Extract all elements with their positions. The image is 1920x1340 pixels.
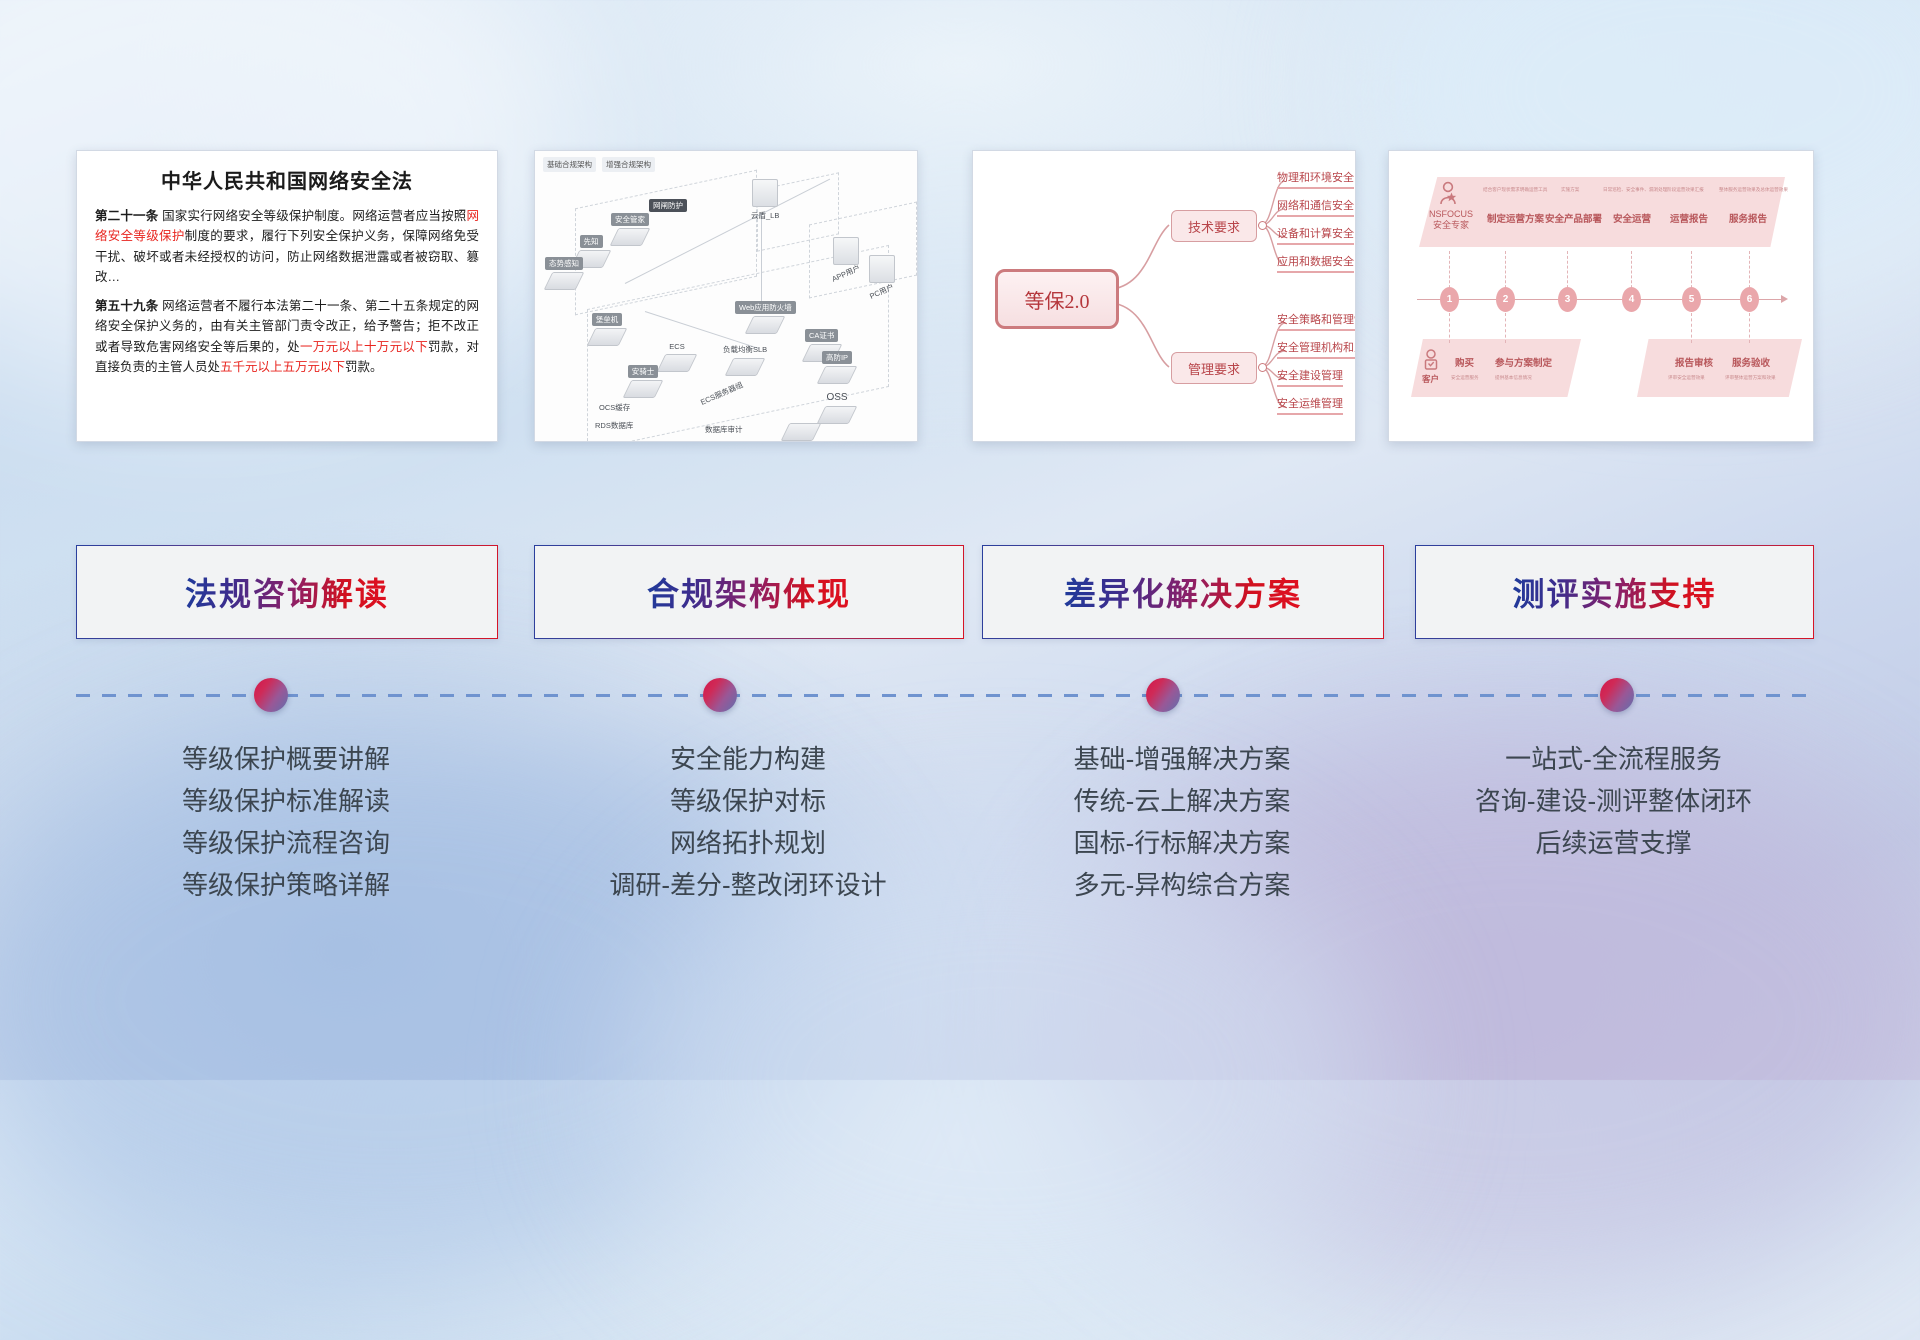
architecture-link-2 xyxy=(761,213,762,305)
list-item: 传统-云上解决方案 xyxy=(982,780,1382,822)
list-item: 等级保护策略详解 xyxy=(76,864,496,906)
law-article-21: 第二十一条 国家实行网络安全等级保护制度。网络运营者应当按照网络安全等级保护制度… xyxy=(95,206,479,287)
article-59-label: 第五十九条 xyxy=(95,299,158,313)
node-shape-icon xyxy=(833,237,859,265)
nsfocus-tick-lower-2 xyxy=(1505,313,1507,343)
list-item: 网络拓扑规划 xyxy=(534,822,962,864)
node-shape-icon xyxy=(544,272,585,290)
node-shape-icon xyxy=(745,316,786,334)
architecture-node-anqishi: 安骑士 xyxy=(627,365,659,398)
detail-list-row: 等级保护概要讲解 等级保护标准解读 等级保护流程咨询 等级保护策略详解 安全能力… xyxy=(0,738,1920,968)
card-nsfocus-timeline: NSFOCUS 安全专家 结合客户现状需求明确运营工具 制定运营方案 实施方案 … xyxy=(1388,150,1814,442)
architecture-tab-enhanced: 增强合规架构 xyxy=(602,157,655,172)
nsfocus-bottom-band-right xyxy=(1637,339,1802,397)
architecture-node-ocs: OCS缓存 xyxy=(595,401,634,416)
timeline-dot-4 xyxy=(1600,678,1634,712)
nsfocus-bottom-minor-4: 评审整体运营方案和效果 xyxy=(1725,375,1776,381)
nsfocus-top-major-5: 服务报告 xyxy=(1729,211,1767,225)
architecture-node-slb: 负载均衡SLB xyxy=(719,343,771,376)
nsfocus-step-node-2: 2 xyxy=(1496,287,1515,312)
node-shape-icon xyxy=(725,358,766,376)
headline-row: 法规咨询解读 合规架构体现 差异化解决方案 测评实施支持 xyxy=(0,545,1920,645)
list-item: 等级保护流程咨询 xyxy=(76,822,496,864)
mindmap-leaf-device-compute: 设备和计算安全 xyxy=(1277,225,1354,245)
law-document: 中华人民共和国网络安全法 第二十一条 国家实行网络安全等级保护制度。网络运营者应… xyxy=(77,151,497,441)
architecture-node-oss: OSS xyxy=(821,391,853,424)
customer-person-icon xyxy=(1421,349,1441,371)
architecture-node-security-butler: 安全管家 xyxy=(611,213,649,246)
nsfocus-tick-lower-5 xyxy=(1691,313,1693,343)
architecture-tab-basic: 基础合规架构 xyxy=(543,157,596,172)
mindmap-collapse-dot-management[interactable] xyxy=(1258,363,1267,372)
nsfocus-expert-label: NSFOCUS 安全专家 xyxy=(1427,209,1475,232)
mindmap-leaf-ops-mgmt: 安全运维管理 xyxy=(1277,395,1343,415)
headline-label: 测评实施支持 xyxy=(1512,569,1716,615)
list-item: 安全能力构建 xyxy=(534,738,962,780)
list-item: 多元-异构综合方案 xyxy=(982,864,1382,906)
architecture-node-situational-awareness: 态势感知 xyxy=(545,257,583,290)
mindmap-branch-management: 管理要求 xyxy=(1171,352,1257,384)
architecture-node-rds: RDS数据库 xyxy=(591,419,637,434)
list-item: 等级保护概要讲解 xyxy=(76,738,496,780)
nsfocus-top-minor-3: 日常巡检、安全事件、漏洞处理 xyxy=(1603,187,1667,193)
slide-stage: 中华人民共和国网络安全法 第二十一条 国家实行网络安全等级保护制度。网络运营者应… xyxy=(0,0,1920,1080)
node-shape-icon xyxy=(657,354,698,372)
node-shape-icon xyxy=(781,423,822,441)
article-59-highlight-1: 一万元以上十万元以下 xyxy=(300,340,428,354)
architecture-node-ecs: ECS xyxy=(661,341,693,372)
architecture-node-app-user: APP用户 xyxy=(827,237,865,282)
node-shape-icon xyxy=(623,380,664,398)
article-21-label: 第二十一条 xyxy=(95,209,158,223)
node-shape-icon xyxy=(817,366,858,384)
nsfocus-bottom-major-1: 购买 xyxy=(1455,355,1474,369)
architecture-node-antiddos: 高防IP xyxy=(821,351,853,384)
mindmap-leaf-physical-env: 物理和环境安全 xyxy=(1277,169,1354,189)
preview-card-row: 中华人民共和国网络安全法 第二十一条 国家实行网络安全等级保护制度。网络运营者应… xyxy=(0,150,1920,450)
nsfocus-top-major-2: 安全产品部署 xyxy=(1545,211,1602,225)
nsfocus-top-major-3: 安全运营 xyxy=(1613,211,1651,225)
law-article-59: 第五十九条 网络运营者不履行本法第二十一条、第二十五条规定的网络安全保护义务的，… xyxy=(95,296,479,377)
nsfocus-top-minor-4: 阶段运营效果汇报 xyxy=(1667,187,1704,193)
nsfocus-tick-lower-1 xyxy=(1449,313,1451,343)
timeline-dot-3 xyxy=(1146,678,1180,712)
list-item: 后续运营支撑 xyxy=(1415,822,1812,864)
mindmap-leaf-network-comm: 网络和通信安全 xyxy=(1277,197,1354,217)
timeline-dot-1 xyxy=(254,678,288,712)
architecture-node-waf: Web应用防火墙 xyxy=(735,301,796,334)
article-59-text-c: 罚款。 xyxy=(345,360,383,374)
nsfocus-top-minor-1: 结合客户现状需求明确运营工具 xyxy=(1483,187,1547,193)
nsfocus-step-node-5: 5 xyxy=(1682,287,1701,312)
architecture-node-bastion: 堡垒机 xyxy=(591,313,623,346)
headline-box-differentiated-solution[interactable]: 差异化解决方案 xyxy=(982,545,1384,639)
mindmap-leaf-construction-mgmt: 安全建设管理 xyxy=(1277,367,1343,387)
architecture-node-pc-user: PC用户 xyxy=(865,255,898,300)
node-shape-icon xyxy=(869,255,895,283)
nsfocus-bottom-minor-2: 提供基本信息情况 xyxy=(1495,375,1532,381)
nsfocus-step-node-6: 6 xyxy=(1740,287,1759,312)
architecture-node-gateway: 网闸防护 xyxy=(649,199,687,214)
nsfocus-bottom-minor-1: 安全运营服务 xyxy=(1451,375,1479,381)
list-item: 等级保护对标 xyxy=(534,780,962,822)
mindmap-leaf-app-data: 应用和数据安全 xyxy=(1277,253,1354,273)
nsfocus-step-node-4: 4 xyxy=(1622,287,1641,312)
architecture-node-ecs-group: ECS服务器组 xyxy=(695,387,748,402)
nsfocus-bottom-major-3: 报告审核 xyxy=(1675,355,1713,369)
list-item: 咨询-建设-测评整体闭环 xyxy=(1415,780,1812,822)
nsfocus-bottom-major-4: 服务验收 xyxy=(1732,355,1770,369)
nsfocus-bottom-major-2: 参与方案制定 xyxy=(1495,355,1552,369)
mindmap-collapse-dot-technical[interactable] xyxy=(1258,221,1267,230)
nsfocus-top-major-4: 运营报告 xyxy=(1670,211,1708,225)
list-item: 基础-增强解决方案 xyxy=(982,738,1382,780)
mindmap-root-node: 等保2.0 xyxy=(995,269,1119,329)
nsfocus-timeline-diagram: NSFOCUS 安全专家 结合客户现状需求明确运营工具 制定运营方案 实施方案 … xyxy=(1389,151,1813,441)
mindmap-leaf-org-personnel: 安全管理机构和人员 xyxy=(1277,339,1356,359)
nsfocus-axis-line xyxy=(1417,299,1785,300)
headline-label: 差异化解决方案 xyxy=(1064,569,1302,615)
headline-label: 法规咨询解读 xyxy=(185,569,389,615)
architecture-node-db-audit: 数据库审计 xyxy=(701,423,747,438)
card-mindmap-dengbao: 等保2.0 技术要求 管理要求 物理和环境安全 网络和通信安全 设备和计算安全 … xyxy=(972,150,1356,442)
detail-list-evaluation-support: 一站式-全流程服务 咨询-建设-测评整体闭环 后续运营支撑 xyxy=(1415,738,1812,864)
detail-list-compliance-architecture: 安全能力构建 等级保护对标 网络拓扑规划 调研-差分-整改闭环设计 xyxy=(534,738,962,906)
headline-box-evaluation-support[interactable]: 测评实施支持 xyxy=(1415,545,1814,639)
detail-list-differentiated-solution: 基础-增强解决方案 传统-云上解决方案 国标-行标解决方案 多元-异构综合方案 xyxy=(982,738,1382,906)
card-cloud-architecture: 基础合规架构 增强合规架构 网闸防护 安全管家 先知 态势感知 堡垒机 云盾_L… xyxy=(534,150,918,442)
mindmap-diagram: 等保2.0 技术要求 管理要求 物理和环境安全 网络和通信安全 设备和计算安全 … xyxy=(973,151,1355,441)
list-item: 调研-差分-整改闭环设计 xyxy=(534,864,962,906)
headline-box-compliance-architecture[interactable]: 合规架构体现 xyxy=(534,545,964,639)
architecture-node-cloud-lb: 云盾_LB xyxy=(747,179,783,224)
list-item: 一站式-全流程服务 xyxy=(1415,738,1812,780)
mindmap-branch-technical: 技术要求 xyxy=(1171,210,1257,242)
nsfocus-top-minor-5: 整体服务运营效果及总体运营效果 xyxy=(1719,187,1788,193)
headline-box-regulation-consulting[interactable]: 法规咨询解读 xyxy=(76,545,498,639)
nsfocus-step-node-3: 3 xyxy=(1558,287,1577,312)
list-item: 等级保护标准解读 xyxy=(76,780,496,822)
list-item: 国标-行标解决方案 xyxy=(982,822,1382,864)
article-21-text-a: 国家实行网络安全等级保护制度。网络运营者应当按照 xyxy=(158,209,466,223)
nsfocus-bottom-minor-3: 评审安全运营效果 xyxy=(1668,375,1705,381)
headline-label: 合规架构体现 xyxy=(647,569,851,615)
nsfocus-step-node-1: 1 xyxy=(1440,287,1459,312)
article-59-highlight-2: 五千元以上五万元以下 xyxy=(220,360,345,374)
architecture-node-vpc: VPC xyxy=(785,423,817,442)
nsfocus-axis-arrow-icon xyxy=(1781,295,1788,303)
mindmap-leaf-policy-system: 安全策略和管理制度 xyxy=(1277,311,1356,331)
nsfocus-tick-lower-6 xyxy=(1749,313,1751,343)
node-shape-icon xyxy=(752,179,778,207)
architecture-diagram: 基础合规架构 增强合规架构 网闸防护 安全管家 先知 态势感知 堡垒机 云盾_L… xyxy=(535,151,917,441)
node-shape-icon xyxy=(817,406,858,424)
node-shape-icon xyxy=(587,328,628,346)
expert-person-icon xyxy=(1437,181,1459,205)
node-shape-icon xyxy=(610,228,651,246)
timeline-dashed-line xyxy=(76,694,1814,697)
architecture-tab-row: 基础合规架构 增强合规架构 xyxy=(543,157,655,172)
detail-list-regulation-consulting: 等级保护概要讲解 等级保护标准解读 等级保护流程咨询 等级保护策略详解 xyxy=(76,738,496,906)
nsfocus-customer-label: 客户 xyxy=(1422,373,1439,385)
nsfocus-top-minor-2: 实施方案 xyxy=(1561,187,1579,193)
nsfocus-top-major-1: 制定运营方案 xyxy=(1487,211,1544,225)
card-cybersecurity-law: 中华人民共和国网络安全法 第二十一条 国家实行网络安全等级保护制度。网络运营者应… xyxy=(76,150,498,442)
timeline-dot-2 xyxy=(703,678,737,712)
law-title: 中华人民共和国网络安全法 xyxy=(95,165,479,194)
